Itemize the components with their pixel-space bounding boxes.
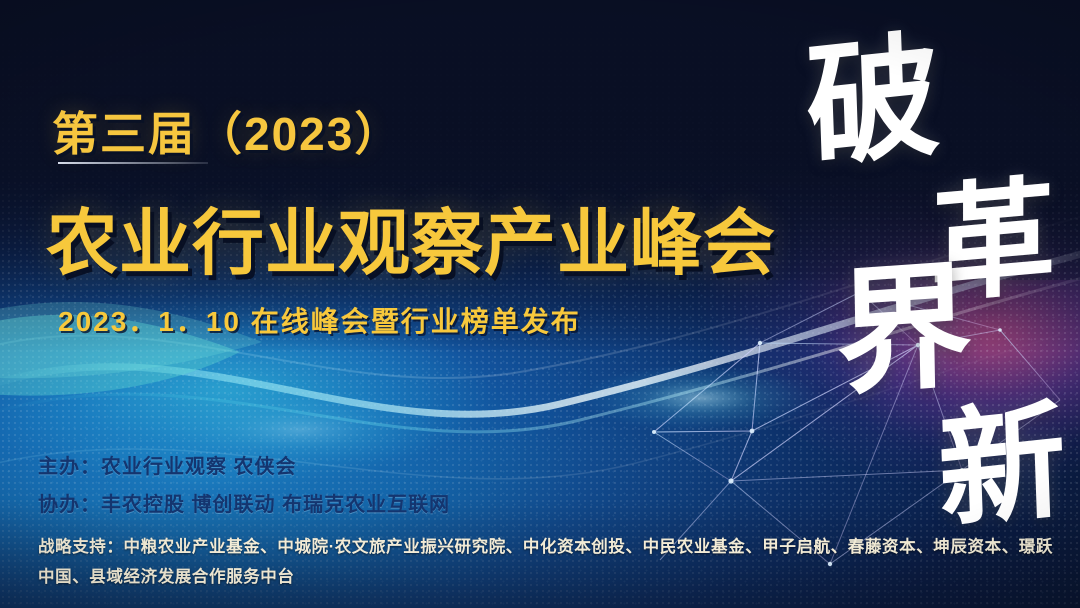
event-date-subtitle: 2023．1．10 在线峰会暨行业榜单发布 <box>58 300 581 340</box>
calligraphy-char-po: 破 <box>804 27 942 175</box>
calligraphy-char-jie: 界 <box>835 257 973 403</box>
calligraphy-char-xin: 新 <box>936 395 1068 537</box>
event-poster: 第三届（2023） 农业行业观察产业峰会 2023．1．10 在线峰会暨行业榜单… <box>0 0 1080 608</box>
co-organizer-line: 协办：丰农控股 博创联动 布瑞克农业互联网 <box>38 488 450 517</box>
kicker-underline <box>58 162 208 164</box>
page-title: 农业行业观察产业峰会 <box>46 184 776 289</box>
organizer-line: 主办：农业行业观察 农侠会 <box>38 450 297 479</box>
event-edition-kicker: 第三届（2023） <box>52 98 402 164</box>
strategic-support-line: 战略支持：中粮农业产业基金、中城院·农文旅产业振兴研究院、中化资本创投、中民农业… <box>38 532 1054 592</box>
